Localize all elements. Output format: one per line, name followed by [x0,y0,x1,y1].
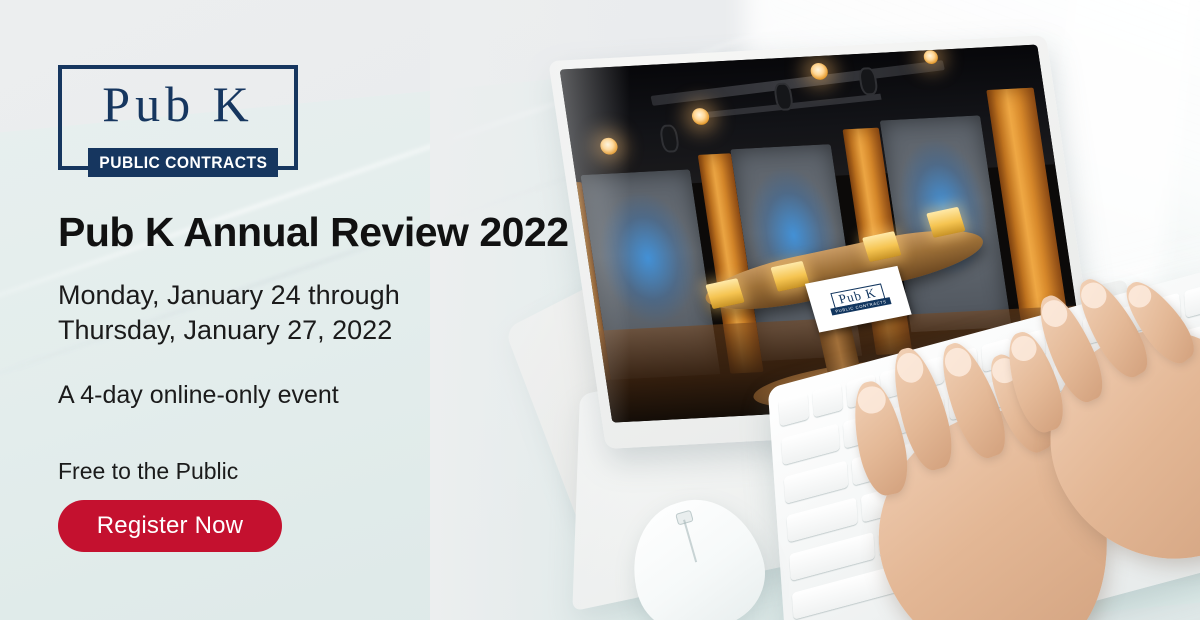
pub-k-logo: Pub K PUBLIC CONTRACTS [58,65,298,170]
page-title: Pub K Annual Review 2022 [58,209,569,256]
logo-wordmark: Pub K [58,79,298,129]
event-format: A 4-day online-only event [58,381,339,410]
event-price-note: Free to the Public [58,458,238,485]
keyboard-key [1184,284,1200,318]
keyboard-key [784,460,849,503]
banner-content: Pub K PUBLIC CONTRACTS Pub K Annual Revi… [58,0,618,620]
fingernail [855,384,888,417]
event-dates-line-1: Monday, January 24 through [58,278,400,313]
register-button[interactable]: Register Now [58,500,282,552]
keyboard-key [786,497,858,542]
event-dates: Monday, January 24 through Thursday, Jan… [58,278,400,347]
event-promo-banner: Pub K PUBLIC CONTRACTS [0,0,1200,620]
keyboard-key [812,383,843,417]
mouse-seam [683,520,697,563]
event-dates-line-2: Thursday, January 27, 2022 [58,313,400,348]
keyboard-key [781,423,840,465]
keyboard-key [778,392,809,426]
logo-tagline-band: PUBLIC CONTRACTS [88,148,278,177]
logo-tagline: PUBLIC CONTRACTS [99,153,267,173]
